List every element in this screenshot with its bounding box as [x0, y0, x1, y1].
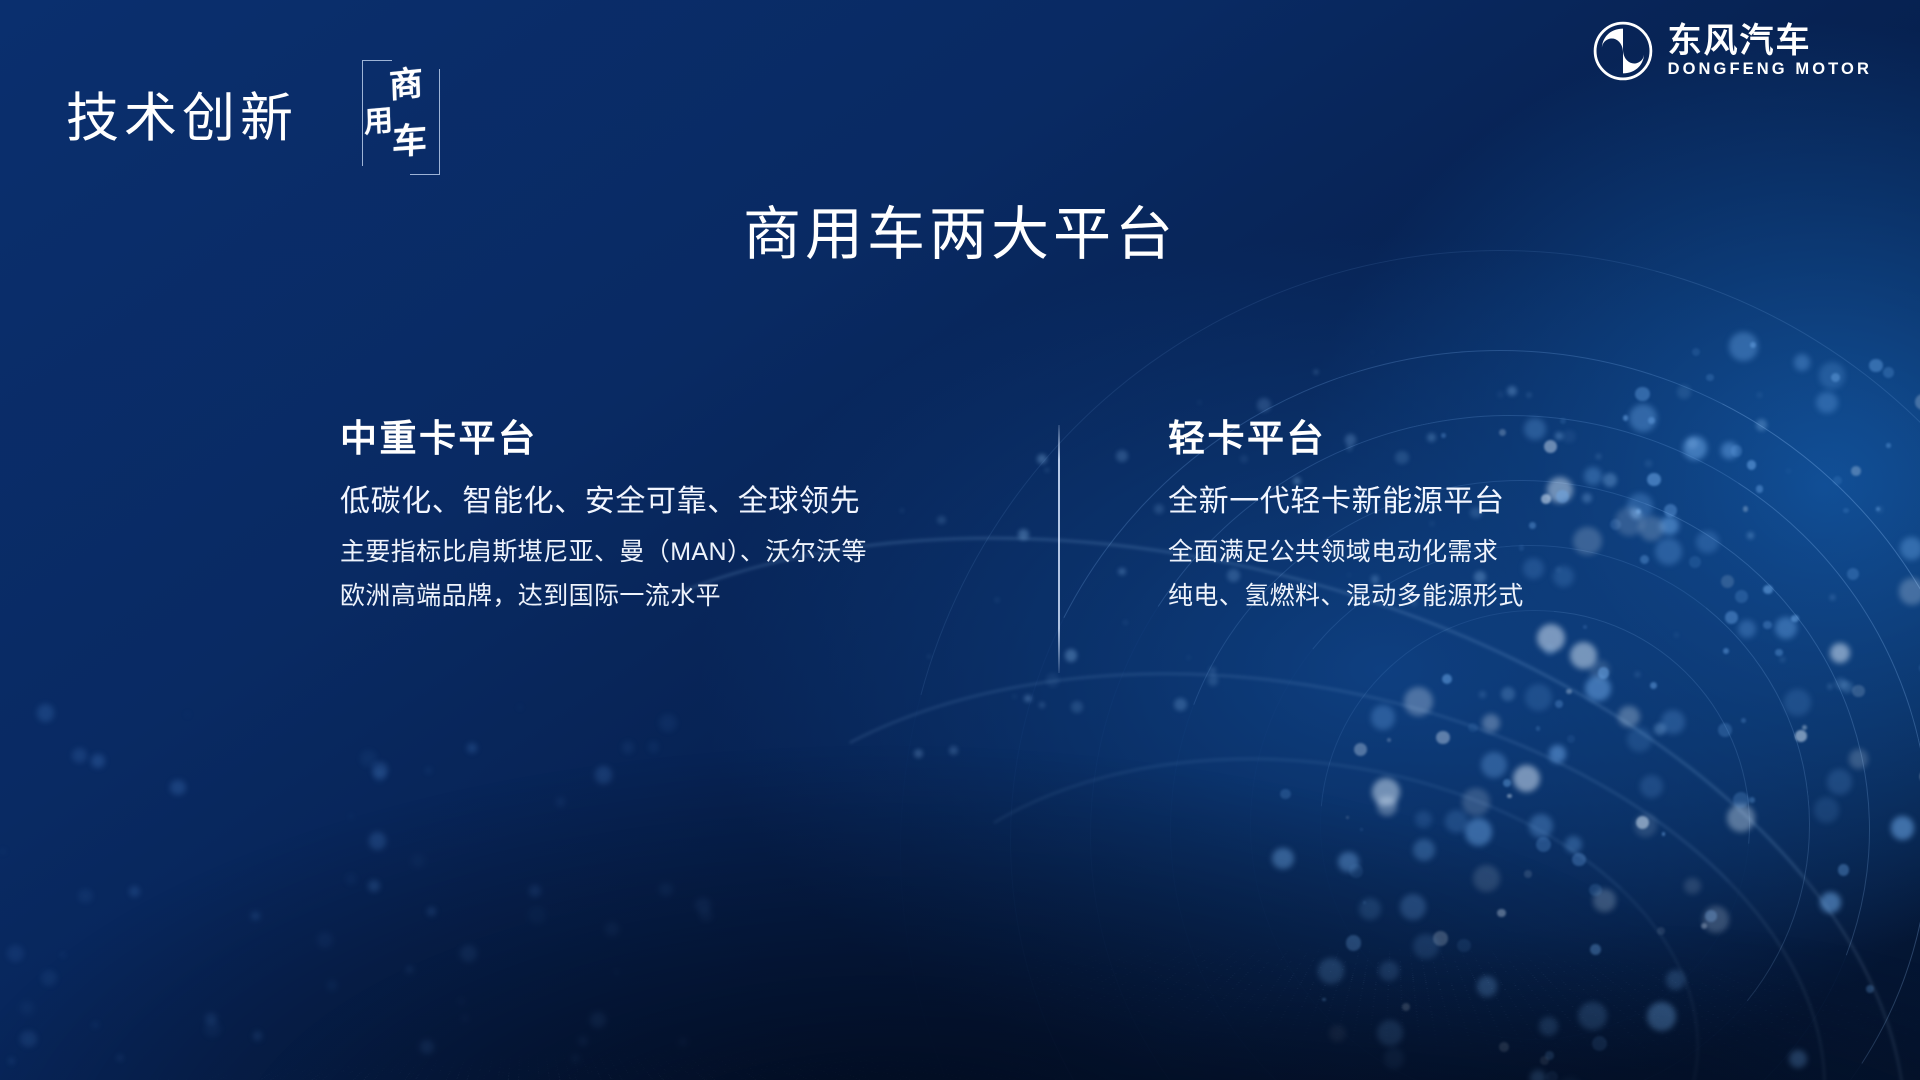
seal-char-shang: 商	[388, 66, 423, 104]
platform-detail-line: 纯电、氢燃料、混动多能源形式	[1168, 584, 1828, 609]
platform-detail-line: 全面满足公共领域电动化需求	[1168, 540, 1828, 565]
platform-heading: 轻卡平台	[1168, 420, 1828, 457]
section-kicker: 技术创新	[66, 92, 298, 145]
page-title: 商用车两大平台	[0, 200, 1920, 270]
brand-logo: 东风汽车 DONGFENG MOTOR	[1592, 20, 1872, 82]
slide-root: 技术创新 商 用 车 东风汽车 DONGFENG MOTOR 商用车两大平台 中	[0, 0, 1920, 1080]
brand-name-en: DONGFENG MOTOR	[1668, 61, 1872, 78]
calligraphy-seal-badge: 商 用 车	[362, 60, 440, 175]
platform-columns: 中重卡平台 低碳化、智能化、安全可靠、全球领先 主要指标比肩斯堪尼亚、曼（MAN…	[0, 420, 1920, 720]
brand-name-cn: 东风汽车	[1668, 24, 1872, 58]
platform-lead-text: 低碳化、智能化、安全可靠、全球领先	[340, 487, 1000, 517]
slide-header: 技术创新 商 用 车 东风汽车 DONGFENG MOTOR	[0, 0, 1920, 210]
platform-detail-line: 主要指标比肩斯堪尼亚、曼（MAN）、沃尔沃等	[340, 540, 1000, 565]
platform-detail-line: 欧洲高端品牌，达到国际一流水平	[340, 584, 1000, 609]
platform-column-light-truck: 轻卡平台 全新一代轻卡新能源平台 全面满足公共领域电动化需求 纯电、氢燃料、混动…	[1168, 420, 1828, 628]
brand-wordmark: 东风汽车 DONGFENG MOTOR	[1668, 24, 1872, 78]
dongfeng-emblem-icon	[1592, 20, 1654, 82]
platform-heading: 中重卡平台	[340, 420, 1000, 457]
platform-lead-text: 全新一代轻卡新能源平台	[1168, 487, 1828, 517]
platform-column-medium-heavy-truck: 中重卡平台 低碳化、智能化、安全可靠、全球领先 主要指标比肩斯堪尼亚、曼（MAN…	[340, 420, 1000, 628]
seal-char-yong: 用	[364, 106, 394, 138]
seal-char-che: 车	[392, 123, 428, 161]
